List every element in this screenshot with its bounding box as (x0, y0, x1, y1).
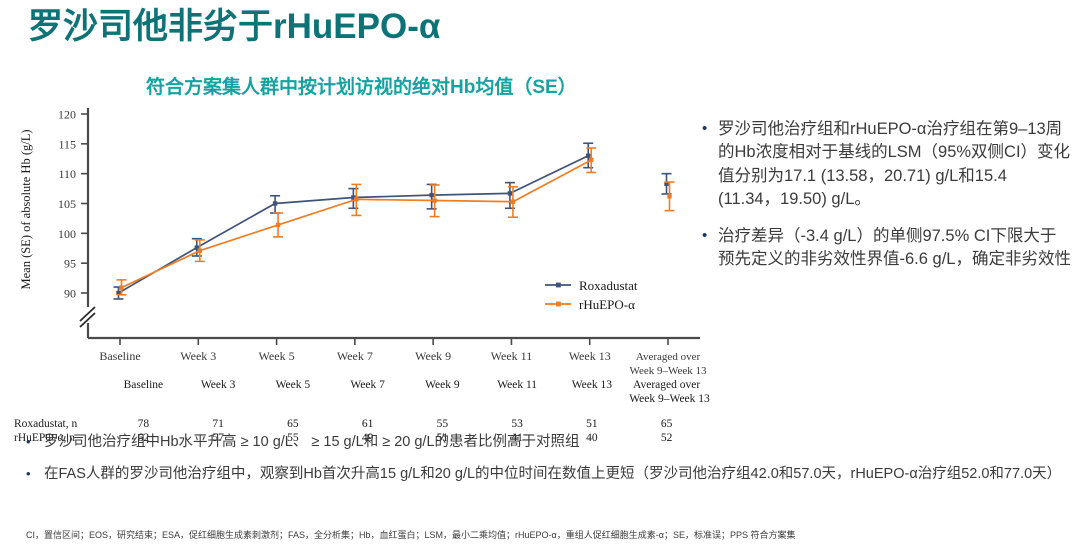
table-cell: 78 (106, 417, 181, 431)
table-row: Roxadustat, n7871656155535165 (14, 417, 704, 431)
legend-marker (556, 283, 561, 288)
y-tick-label: 115 (58, 137, 76, 151)
data-point (354, 197, 358, 201)
y-axis-label: Mean (SE) of absolute Hb (g/L) (19, 129, 33, 289)
data-point (198, 248, 202, 252)
bullet-marker-icon: • (26, 432, 44, 454)
series-line (122, 160, 592, 288)
x-tick-label: Week 11 (491, 349, 533, 363)
x-tick-label: Week 3 (180, 349, 216, 363)
data-point (273, 201, 277, 205)
row-label: Roxadustat, n (14, 417, 106, 431)
x-tick-label: Averaged over (636, 351, 701, 363)
x-tick-label: Week 7 (337, 349, 373, 363)
column-header: Week 3 (181, 378, 256, 392)
x-tick-label: Week 9 (415, 349, 451, 363)
column-header: Week 11 (480, 378, 555, 392)
column-header: Averaged over (629, 378, 704, 392)
legend-label: Roxadustat (579, 278, 638, 293)
list-item: • 治疗差异（-3.4 g/L）的单侧97.5% CI下限大于预先定义的非劣效性… (700, 225, 1072, 272)
slide-root: 罗沙司他非劣于rHuEPO-α 符合方案集人群中按计划访视的绝对Hb均值（SE）… (0, 0, 1080, 560)
right-bullet-list: • 罗沙司他治疗组和rHuEPO-α治疗组在第9–13周的Hb浓度相对于基线的L… (700, 118, 1072, 285)
y-tick-label: 120 (58, 108, 76, 122)
bottom-bullet-text-2: 在FAS人群的罗沙司他治疗组中，观察到Hb首次升高15 g/L和20 g/L的中… (44, 464, 1066, 486)
y-tick-label: 110 (58, 167, 76, 181)
column-header: Baseline (106, 378, 181, 392)
table-cell: 55 (405, 417, 480, 431)
list-item: • 罗沙司他治疗组和rHuEPO-α治疗组在第9–13周的Hb浓度相对于基线的L… (700, 118, 1072, 212)
column-header: Week 13 (555, 378, 630, 392)
bullet-marker-icon: • (26, 464, 44, 486)
x-tick-label: Week 9–Week 13 (629, 365, 707, 377)
column-header: Week 7 (330, 378, 405, 392)
hb-line-chart: 9095100105110115120Mean (SE) of absolute… (8, 100, 708, 390)
table-cell: 61 (330, 417, 405, 431)
y-tick-label: 100 (58, 227, 76, 241)
data-point (432, 198, 436, 202)
right-bullet-text-2: 治疗差异（-3.4 g/L）的单侧97.5% CI下限大于预先定义的非劣效性界值… (718, 225, 1072, 272)
list-item: • 罗沙司他治疗组中Hb水平升高 ≥ 10 g/L、 ≥ 15 g/L和 ≥ 2… (26, 432, 1066, 454)
data-point (667, 194, 671, 198)
page-title: 罗沙司他非劣于rHuEPO-α (28, 8, 440, 47)
column-header-sub: Week 9–Week 13 (629, 392, 704, 406)
table-header-row: BaselineWeek 3Week 5Week 7Week 9Week 11W… (14, 378, 704, 392)
table-header-row-2: Week 9–Week 13 (14, 392, 704, 406)
table-cell: 53 (480, 417, 555, 431)
bullet-marker-icon: • (700, 225, 718, 272)
bullet-marker-icon: • (700, 118, 718, 212)
data-point (586, 154, 590, 158)
chart-svg: 9095100105110115120Mean (SE) of absolute… (8, 100, 708, 390)
y-tick-label: 95 (64, 257, 76, 271)
table-cell: 65 (256, 417, 331, 431)
y-tick-label: 90 (64, 287, 76, 301)
data-point (508, 191, 512, 195)
table-cell: 71 (181, 417, 256, 431)
column-header: Week 9 (405, 378, 480, 392)
data-point (511, 200, 515, 204)
chart-title: 符合方案集人群中按计划访视的绝对Hb均值（SE） (146, 72, 706, 99)
table-cell: 65 (629, 417, 704, 431)
data-point (119, 285, 123, 289)
bottom-bullet-list: • 罗沙司他治疗组中Hb水平升高 ≥ 10 g/L、 ≥ 15 g/L和 ≥ 2… (26, 432, 1066, 496)
data-point (429, 193, 433, 197)
right-bullet-text-1: 罗沙司他治疗组和rHuEPO-α治疗组在第9–13周的Hb浓度相对于基线的LSM… (718, 118, 1072, 212)
series-roxadustat (114, 143, 672, 299)
y-tick-label: 105 (58, 197, 76, 211)
legend-marker (556, 302, 561, 307)
series-line (119, 156, 589, 293)
legend-label: rHuEPO-α (579, 297, 635, 312)
bottom-bullet-text-1: 罗沙司他治疗组中Hb水平升高 ≥ 10 g/L、 ≥ 15 g/L和 ≥ 20 … (44, 432, 1066, 454)
column-header: Week 5 (256, 378, 331, 392)
x-tick-label: Week 13 (569, 349, 611, 363)
table-cell: 51 (555, 417, 630, 431)
list-item: • 在FAS人群的罗沙司他治疗组中，观察到Hb首次升高15 g/L和20 g/L… (26, 464, 1066, 486)
x-tick-label: Week 5 (259, 349, 295, 363)
column-header (14, 378, 106, 392)
data-point (276, 223, 280, 227)
data-point (589, 158, 593, 162)
x-tick-label: Baseline (99, 349, 140, 363)
footnote-abbreviations: CI，置信区间；EOS，研究结束；ESA，促红细胞生成素刺激剂；FAS，全分析集… (26, 530, 1070, 542)
series-rhuepo (117, 148, 675, 295)
